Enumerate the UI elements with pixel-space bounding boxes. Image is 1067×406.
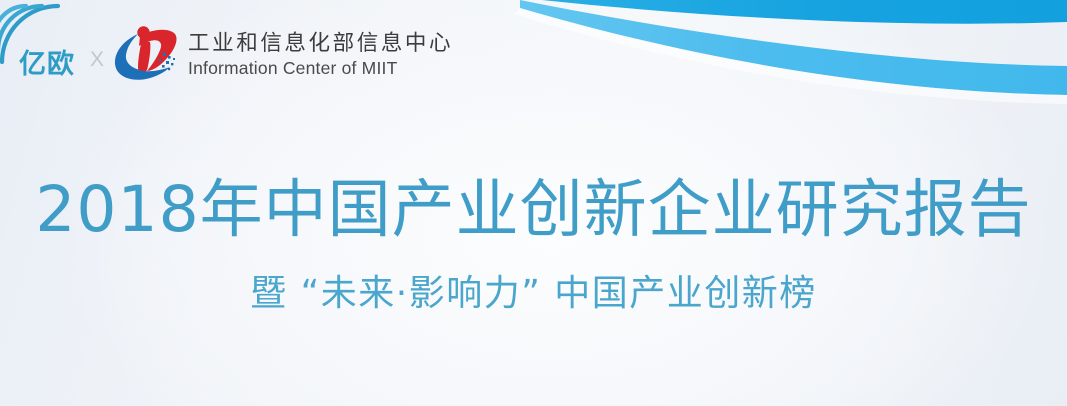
report-sub-title: 暨 “未来·影响力” 中国产业创新榜 bbox=[0, 276, 1067, 312]
miit-wordmark: 工业和信息化部信息中心 Information Center of MIIT bbox=[188, 29, 453, 80]
swoosh-band-dark bbox=[505, 0, 1067, 24]
swoosh-band-light bbox=[520, 0, 1067, 95]
miit-name-en: Information Center of MIIT bbox=[188, 58, 453, 79]
miit-name-cn: 工业和信息化部信息中心 bbox=[188, 32, 453, 57]
logo-separator-x: X bbox=[90, 36, 104, 72]
report-main-title: 2018年中国产业创新企业研究报告 bbox=[0, 178, 1067, 241]
report-cover-banner: 亿欧 X bbox=[0, 0, 1067, 406]
yiou-logo[interactable]: 亿欧 bbox=[8, 26, 86, 82]
miit-logo-mark[interactable] bbox=[110, 22, 184, 88]
yiou-logo-text: 亿欧 bbox=[19, 51, 75, 82]
logo-row: 亿欧 X bbox=[0, 12, 470, 96]
miit-i-dot bbox=[137, 26, 149, 38]
swoosh-highlight bbox=[514, 8, 1067, 104]
